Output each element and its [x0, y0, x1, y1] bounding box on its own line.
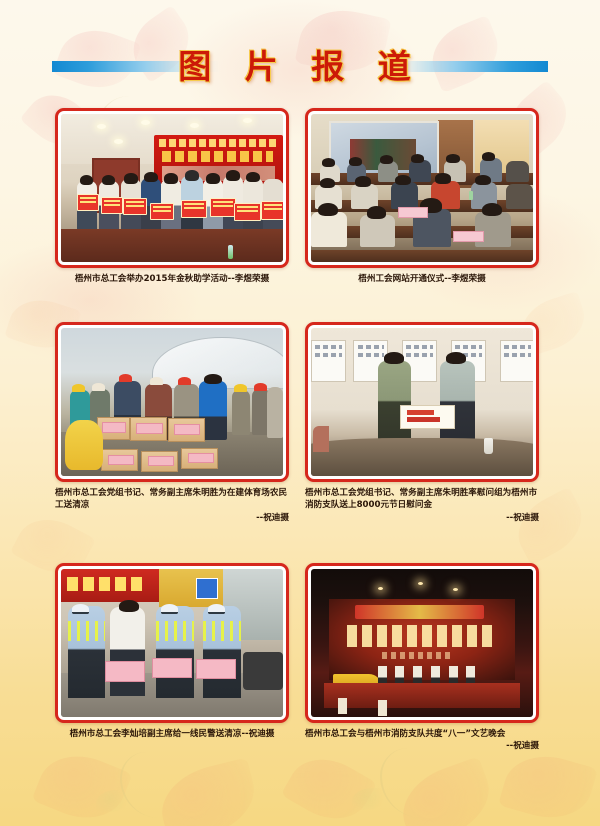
- photo-frame-6: [305, 563, 539, 723]
- photo-image-3: [61, 328, 283, 476]
- photo-frame-5: [55, 563, 289, 723]
- photo-row-1: 梧州市总工会举办2015年金秋助学活动--李煜荣摄: [0, 108, 600, 320]
- photo-credit-3: --祝迪摄: [55, 512, 289, 524]
- photo-cell-3[interactable]: 梧州市总工会党组书记、常务副主席朱明胜为在建体育场农民工送清凉 --祝迪摄: [55, 322, 295, 524]
- photo-image-5: [61, 569, 283, 717]
- photo-image-6: [311, 569, 533, 717]
- photo-frame-3: [55, 322, 289, 482]
- photo-caption-1: 梧州市总工会举办2015年金秋助学活动--李煜荣摄: [55, 273, 289, 285]
- photo-row-2: 梧州市总工会党组书记、常务副主席朱明胜为在建体育场农民工送清凉 --祝迪摄: [0, 322, 600, 549]
- photo-frame-4: [305, 322, 539, 482]
- photo-caption-4-text: 梧州市总工会党组书记、常务副主席朱明胜率慰问组为梧州市消防支队送上8000元节日…: [305, 488, 537, 510]
- page-root: 图 片 报 道: [0, 0, 600, 826]
- photo-frame-1: [55, 108, 289, 268]
- photo-cell-6[interactable]: 梧州市总工会与梧州市消防支队共度“八一”文艺晚会 --祝迪摄: [305, 563, 545, 753]
- photo-caption-3-text: 梧州市总工会党组书记、常务副主席朱明胜为在建体育场农民工送清凉: [55, 488, 287, 510]
- photo-caption-5: 梧州市总工会李灿培副主席给一线民警送清凉--祝迪摄: [55, 728, 289, 740]
- photo-image-2: [311, 114, 533, 262]
- photo-frame-2: [305, 108, 539, 268]
- photo-caption-6-text: 梧州市总工会与梧州市消防支队共度“八一”文艺晚会: [305, 729, 505, 739]
- photo-row-3: 梧州市总工会李灿培副主席给一线民警送清凉--祝迪摄: [0, 563, 600, 773]
- photo-credit-4: --祝迪摄: [305, 512, 539, 524]
- page-title: 图 片 报 道: [0, 44, 600, 90]
- photo-caption-4: 梧州市总工会党组书记、常务副主席朱明胜率慰问组为梧州市消防支队送上8000元节日…: [305, 487, 539, 524]
- photo-grid: 梧州市总工会举办2015年金秋助学活动--李煜荣摄: [0, 108, 600, 773]
- photo-credit-6: --祝迪摄: [305, 740, 539, 752]
- photo-cell-4[interactable]: 梧州市总工会党组书记、常务副主席朱明胜率慰问组为梧州市消防支队送上8000元节日…: [305, 322, 545, 524]
- page-header: 图 片 报 道: [0, 44, 600, 92]
- photo-image-1: [61, 114, 283, 262]
- photo-cell-2[interactable]: 梧州工会网站开通仪式--李煜荣摄: [305, 108, 545, 285]
- photo-caption-6: 梧州市总工会与梧州市消防支队共度“八一”文艺晚会 --祝迪摄: [305, 728, 539, 753]
- photo-caption-3: 梧州市总工会党组书记、常务副主席朱明胜为在建体育场农民工送清凉 --祝迪摄: [55, 487, 289, 524]
- photo-cell-5[interactable]: 梧州市总工会李灿培副主席给一线民警送清凉--祝迪摄: [55, 563, 295, 740]
- photo-cell-1[interactable]: 梧州市总工会举办2015年金秋助学活动--李煜荣摄: [55, 108, 295, 285]
- photo-caption-2: 梧州工会网站开通仪式--李煜荣摄: [305, 273, 539, 285]
- photo-image-4: [311, 328, 533, 476]
